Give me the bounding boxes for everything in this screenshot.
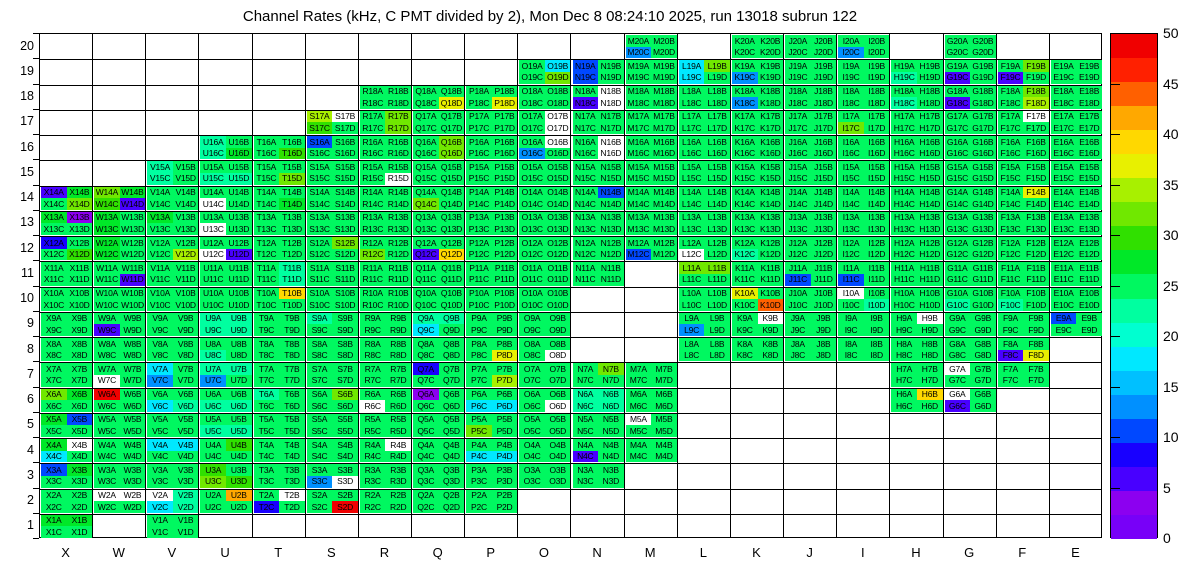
channel-v1c[interactable]: V1C — [147, 526, 173, 538]
heatmap-cell[interactable]: V10AV10BV10CV10D — [147, 288, 198, 311]
heatmap-cell[interactable]: H18AH18BH18CH18D — [891, 86, 942, 109]
channel-o3d[interactable]: O3D — [545, 476, 571, 488]
channel-t11a[interactable]: T11A — [254, 262, 280, 274]
heatmap-cell[interactable]: J10AJ10BJ10CJ10D — [785, 288, 836, 311]
channel-o6a[interactable]: O6A — [519, 389, 545, 401]
channel-j10c[interactable]: J10C — [785, 299, 811, 311]
channel-i17c[interactable]: I17C — [838, 122, 864, 134]
channel-k8d[interactable]: K8D — [758, 350, 784, 362]
heatmap-cell[interactable]: N11AN11BN11CN11D — [573, 262, 624, 285]
channel-w4c[interactable]: W4C — [94, 451, 120, 463]
channel-f7a[interactable]: F7A — [998, 363, 1024, 375]
heatmap-cell[interactable]: O11AO11BO11CO11D — [519, 262, 570, 285]
channel-m15a[interactable]: M15A — [626, 161, 652, 173]
heatmap-cell[interactable]: Q18AQ18BQ18CQ18D — [413, 86, 464, 109]
channel-f14b[interactable]: F14B — [1023, 187, 1049, 199]
channel-q17d[interactable]: Q17D — [439, 122, 465, 134]
channel-p4c[interactable]: P4C — [466, 451, 492, 463]
heatmap-cell[interactable]: V12AV12BV12CV12D — [147, 237, 198, 260]
channel-m17d[interactable]: M17D — [651, 122, 677, 134]
channel-v10d[interactable]: V10D — [173, 299, 199, 311]
channel-g20d[interactable]: G20D — [970, 47, 996, 59]
channel-s3a[interactable]: S3A — [307, 464, 333, 476]
heatmap-cell[interactable]: Q15AQ15BQ15CQ15D — [413, 161, 464, 184]
channel-v3a[interactable]: V3A — [147, 464, 173, 476]
channel-q2b[interactable]: Q2B — [439, 490, 465, 502]
heatmap-cell[interactable]: N19AN19BN19CN19D — [573, 60, 624, 83]
heatmap-cell[interactable]: X6AX6BX6CX6D — [41, 389, 92, 412]
channel-r2b[interactable]: R2B — [385, 490, 411, 502]
channel-s6a[interactable]: S6A — [307, 389, 333, 401]
channel-j18c[interactable]: J18C — [785, 97, 811, 109]
heatmap-cell[interactable]: T8AT8BT8CT8D — [254, 338, 305, 361]
channel-m17a[interactable]: M17A — [626, 111, 652, 123]
channel-j20d[interactable]: J20D — [811, 47, 837, 59]
channel-p14b[interactable]: P14B — [492, 187, 518, 199]
heatmap-cell[interactable]: T10AT10BT10CT10D — [254, 288, 305, 311]
channel-w8c[interactable]: W8C — [94, 350, 120, 362]
channel-n3a[interactable]: N3A — [573, 464, 599, 476]
channel-f7d[interactable]: F7D — [1023, 375, 1049, 387]
heatmap-cell[interactable]: V2AV2BV2CV2D — [147, 490, 198, 513]
channel-q4d[interactable]: Q4D — [439, 451, 465, 463]
heatmap-cell[interactable]: T6AT6BT6CT6D — [254, 389, 305, 412]
channel-t6a[interactable]: T6A — [254, 389, 280, 401]
channel-o7d[interactable]: O7D — [545, 375, 571, 387]
channel-n19d[interactable]: N19D — [598, 72, 624, 84]
channel-r2d[interactable]: R2D — [385, 501, 411, 513]
heatmap-cell[interactable]: R15AR15BR15CR15D — [360, 161, 411, 184]
heatmap-cell[interactable]: S6AS6BS6CS6D — [307, 389, 358, 412]
channel-f14d[interactable]: F14D — [1023, 198, 1049, 210]
channel-s12c[interactable]: S12C — [307, 249, 333, 261]
channel-j14c[interactable]: J14C — [785, 198, 811, 210]
channel-v10a[interactable]: V10A — [147, 288, 173, 300]
channel-g13c[interactable]: G13C — [945, 223, 971, 235]
channel-i11d[interactable]: I11D — [864, 274, 890, 286]
channel-m20a[interactable]: M20A — [626, 35, 652, 47]
channel-m4d[interactable]: M4D — [651, 451, 677, 463]
channel-l8a[interactable]: L8A — [679, 338, 705, 350]
heatmap-cell[interactable]: L16AL16BL16CL16D — [679, 136, 730, 159]
channel-q9b[interactable]: Q9B — [439, 313, 465, 325]
channel-u10c[interactable]: U10C — [200, 299, 226, 311]
channel-q9a[interactable]: Q9A — [413, 313, 439, 325]
heatmap-cell[interactable]: O3AO3BO3CO3D — [519, 464, 570, 487]
channel-q7a[interactable]: Q7A — [413, 363, 439, 375]
channel-o15b[interactable]: O15B — [545, 161, 571, 173]
channel-e18b[interactable]: E18B — [1076, 86, 1102, 98]
channel-n4b[interactable]: N4B — [598, 439, 624, 451]
heatmap-cell[interactable]: L17AL17BL17CL17D — [679, 111, 730, 134]
heatmap-cell[interactable]: F14AF14BF14CF14D — [998, 187, 1049, 210]
channel-o10d[interactable]: O10D — [545, 299, 571, 311]
channel-h11b[interactable]: H11B — [917, 262, 943, 274]
channel-x12b[interactable]: X12B — [67, 237, 93, 249]
heatmap-cell[interactable]: Q17AQ17BQ17CQ17D — [413, 111, 464, 134]
channel-n15c[interactable]: N15C — [573, 173, 599, 185]
channel-o14a[interactable]: O14A — [519, 187, 545, 199]
channel-u12b[interactable]: U12B — [226, 237, 252, 249]
heatmap-cell[interactable]: X1AX1BX1CX1D — [41, 515, 92, 538]
channel-r8b[interactable]: R8B — [385, 338, 411, 350]
channel-g10c[interactable]: G10C — [945, 299, 971, 311]
channel-v11b[interactable]: V11B — [173, 262, 199, 274]
channel-l8b[interactable]: L8B — [704, 338, 730, 350]
channel-n5a[interactable]: N5A — [573, 414, 599, 426]
channel-j20a[interactable]: J20A — [785, 35, 811, 47]
channel-q7b[interactable]: Q7B — [439, 363, 465, 375]
channel-e11c[interactable]: E11C — [1051, 274, 1077, 286]
channel-r11c[interactable]: R11C — [360, 274, 386, 286]
channel-g11a[interactable]: G11A — [945, 262, 971, 274]
channel-v13c[interactable]: V13C — [147, 223, 173, 235]
channel-k11b[interactable]: K11B — [758, 262, 784, 274]
channel-h12b[interactable]: H12B — [917, 237, 943, 249]
heatmap-cell[interactable]: I19AI19BI19CI19D — [838, 60, 889, 83]
channel-n17c[interactable]: N17C — [573, 122, 599, 134]
channel-p12d[interactable]: P12D — [492, 249, 518, 261]
channel-x13c[interactable]: X13C — [41, 223, 67, 235]
channel-i9d[interactable]: I9D — [864, 324, 890, 336]
channel-p7b[interactable]: P7B — [492, 363, 518, 375]
channel-w2b[interactable]: W2B — [120, 490, 146, 502]
channel-u4d[interactable]: U4D — [226, 451, 252, 463]
channel-t14d[interactable]: T14D — [279, 198, 305, 210]
channel-h11c[interactable]: H11C — [891, 274, 917, 286]
heatmap-cell[interactable]: O6AO6BO6CO6D — [519, 389, 570, 412]
channel-r15a[interactable]: R15A — [360, 161, 386, 173]
heatmap-cell[interactable]: W9AW9BW9CW9D — [94, 313, 145, 336]
channel-x14d[interactable]: X14D — [67, 198, 93, 210]
heatmap-cell[interactable]: T9AT9BT9CT9D — [254, 313, 305, 336]
channel-r10c[interactable]: R10C — [360, 299, 386, 311]
channel-r10b[interactable]: R10B — [385, 288, 411, 300]
channel-g20b[interactable]: G20B — [970, 35, 996, 47]
channel-f18d[interactable]: F18D — [1023, 97, 1049, 109]
channel-u8c[interactable]: U8C — [200, 350, 226, 362]
channel-h12a[interactable]: H12A — [891, 237, 917, 249]
heatmap-cell[interactable]: H16AH16BH16CH16D — [891, 136, 942, 159]
channel-p8d[interactable]: P8D — [492, 350, 518, 362]
heatmap-cell[interactable]: I8AI8BI8CI8D — [838, 338, 889, 361]
channel-j16d[interactable]: J16D — [811, 148, 837, 160]
heatmap-cell[interactable]: O10AO10BO10CO10D — [519, 288, 570, 311]
channel-j16c[interactable]: J16C — [785, 148, 811, 160]
channel-u14c[interactable]: U14C — [200, 198, 226, 210]
channel-w14d[interactable]: W14D — [120, 198, 146, 210]
channel-r5c[interactable]: R5C — [360, 425, 386, 437]
channel-e16d[interactable]: E16D — [1076, 148, 1102, 160]
heatmap-cell[interactable]: G9AG9BG9CG9D — [945, 313, 996, 336]
channel-r10d[interactable]: R10D — [385, 299, 411, 311]
channel-i8c[interactable]: I8C — [838, 350, 864, 362]
channel-l9d[interactable]: L9D — [704, 324, 730, 336]
channel-e17b[interactable]: E17B — [1076, 111, 1102, 123]
channel-i10b[interactable]: I10B — [864, 288, 890, 300]
channel-w14a[interactable]: W14A — [94, 187, 120, 199]
channel-i18d[interactable]: I18D — [864, 97, 890, 109]
heatmap-cell[interactable]: S12AS12BS12CS12D — [307, 237, 358, 260]
channel-f13b[interactable]: F13B — [1023, 212, 1049, 224]
channel-e13c[interactable]: E13C — [1051, 223, 1077, 235]
channel-j19b[interactable]: J19B — [811, 60, 837, 72]
heatmap-cell[interactable]: U3AU3BU3CU3D — [200, 464, 251, 487]
channel-r18b[interactable]: R18B — [385, 86, 411, 98]
channel-p5b[interactable]: P5B — [492, 414, 518, 426]
channel-q8c[interactable]: Q8C — [413, 350, 439, 362]
channel-w3a[interactable]: W3A — [94, 464, 120, 476]
channel-t13c[interactable]: T13C — [254, 223, 280, 235]
channel-r4c[interactable]: R4C — [360, 451, 386, 463]
channel-p17c[interactable]: P17C — [466, 122, 492, 134]
channel-o16a[interactable]: O16A — [519, 136, 545, 148]
channel-x12c[interactable]: X12C — [41, 249, 67, 261]
heatmap-cell[interactable]: T14AT14BT14CT14D — [254, 187, 305, 210]
channel-v2d[interactable]: V2D — [173, 501, 199, 513]
channel-o8c[interactable]: O8C — [519, 350, 545, 362]
channel-x2b[interactable]: X2B — [67, 490, 93, 502]
channel-n17b[interactable]: N17B — [598, 111, 624, 123]
channel-n18b[interactable]: N18B — [598, 86, 624, 98]
channel-j12a[interactable]: J12A — [785, 237, 811, 249]
channel-x13b[interactable]: X13B — [67, 212, 93, 224]
heatmap-cell[interactable]: R11AR11BR11CR11D — [360, 262, 411, 285]
heatmap-cell[interactable]: U7AU7BU7CU7D — [200, 363, 251, 386]
channel-k18c[interactable]: K18C — [732, 97, 758, 109]
channel-j15d[interactable]: J15D — [811, 173, 837, 185]
channel-q2d[interactable]: Q2D — [439, 501, 465, 513]
channel-j13d[interactable]: J13D — [811, 223, 837, 235]
heatmap-cell[interactable]: T3AT3BT3CT3D — [254, 464, 305, 487]
channel-h19c[interactable]: H19C — [891, 72, 917, 84]
channel-m19d[interactable]: M19D — [651, 72, 677, 84]
heatmap-cell[interactable]: W7AW7BW7CW7D — [94, 363, 145, 386]
channel-q8a[interactable]: Q8A — [413, 338, 439, 350]
channel-g9b[interactable]: G9B — [970, 313, 996, 325]
heatmap-cell[interactable]: U15AU15BU15CU15D — [200, 161, 251, 184]
channel-i16d[interactable]: I16D — [864, 148, 890, 160]
channel-p7c[interactable]: P7C — [466, 375, 492, 387]
heatmap-cell[interactable]: N6AN6BN6CN6D — [573, 389, 624, 412]
channel-q12c[interactable]: Q12C — [413, 249, 439, 261]
heatmap-cell[interactable]: T16AT16BT16CT16D — [254, 136, 305, 159]
channel-r12a[interactable]: R12A — [360, 237, 386, 249]
channel-n19c[interactable]: N19C — [573, 72, 599, 84]
channel-g8c[interactable]: G8C — [945, 350, 971, 362]
channel-x1b[interactable]: X1B — [67, 515, 93, 527]
channel-k17b[interactable]: K17B — [758, 111, 784, 123]
channel-t4a[interactable]: T4A — [254, 439, 280, 451]
heatmap-cell[interactable]: P18AP18BP18CP18D — [466, 86, 517, 109]
channel-h17b[interactable]: H17B — [917, 111, 943, 123]
channel-v3d[interactable]: V3D — [173, 476, 199, 488]
heatmap-cell[interactable]: R13AR13BR13CR13D — [360, 212, 411, 235]
channel-s11b[interactable]: S11B — [332, 262, 358, 274]
channel-u15b[interactable]: U15B — [226, 161, 252, 173]
heatmap-cell[interactable]: O7AO7BO7CO7D — [519, 363, 570, 386]
heatmap-cell[interactable]: N15AN15BN15CN15D — [573, 161, 624, 184]
channel-v1d[interactable]: V1D — [173, 526, 199, 538]
channel-f10b[interactable]: F10B — [1023, 288, 1049, 300]
channel-g8d[interactable]: G8D — [970, 350, 996, 362]
heatmap-cell[interactable]: E19AE19BE19CE19D — [1051, 60, 1102, 83]
channel-x6a[interactable]: X6A — [41, 389, 67, 401]
heatmap-cell[interactable]: P11AP11BP11CP11D — [466, 262, 517, 285]
channel-e13b[interactable]: E13B — [1076, 212, 1102, 224]
channel-u9d[interactable]: U9D — [226, 324, 252, 336]
channel-f12c[interactable]: F12C — [998, 249, 1024, 261]
channel-w9c[interactable]: W9C — [94, 324, 120, 336]
channel-m16b[interactable]: M16B — [651, 136, 677, 148]
heatmap-cell[interactable]: W8AW8BW8CW8D — [94, 338, 145, 361]
channel-g14d[interactable]: G14D — [970, 198, 996, 210]
channel-p9d[interactable]: P9D — [492, 324, 518, 336]
heatmap-cell[interactable]: J9AJ9BJ9CJ9D — [785, 313, 836, 336]
channel-t7b[interactable]: T7B — [279, 363, 305, 375]
heatmap-cell[interactable]: K12AK12BK12CK12D — [732, 237, 783, 260]
channel-r13a[interactable]: R13A — [360, 212, 386, 224]
channel-f14c[interactable]: F14C — [998, 198, 1024, 210]
channel-v2c[interactable]: V2C — [147, 501, 173, 513]
channel-x8c[interactable]: X8C — [41, 350, 67, 362]
channel-l14a[interactable]: L14A — [679, 187, 705, 199]
channel-l8c[interactable]: L8C — [679, 350, 705, 362]
channel-k15d[interactable]: K15D — [758, 173, 784, 185]
heatmap-cell[interactable]: H7AH7BH7CH7D — [891, 363, 942, 386]
channel-u16d[interactable]: U16D — [226, 148, 252, 160]
channel-t6d[interactable]: T6D — [279, 400, 305, 412]
channel-j16b[interactable]: J16B — [811, 136, 837, 148]
channel-j18d[interactable]: J18D — [811, 97, 837, 109]
channel-e9c[interactable]: E9C — [1051, 324, 1077, 336]
channel-k9c[interactable]: K9C — [732, 324, 758, 336]
channel-h8c[interactable]: H8C — [891, 350, 917, 362]
channel-m20b[interactable]: M20B — [651, 35, 677, 47]
channel-s3c[interactable]: S3C — [307, 476, 333, 488]
channel-k12c[interactable]: K12C — [732, 249, 758, 261]
channel-g13d[interactable]: G13D — [970, 223, 996, 235]
channel-o3b[interactable]: O3B — [545, 464, 571, 476]
channel-l9b[interactable]: L9B — [704, 313, 730, 325]
channel-e17d[interactable]: E17D — [1076, 122, 1102, 134]
heatmap-cell[interactable]: F8AF8BF8CF8D — [998, 338, 1049, 361]
channel-n6a[interactable]: N6A — [573, 389, 599, 401]
channel-n16b[interactable]: N16B — [598, 136, 624, 148]
channel-f8a[interactable]: F8A — [998, 338, 1024, 350]
heatmap-cell[interactable]: S8AS8BS8CS8D — [307, 338, 358, 361]
channel-o8d[interactable]: O8D — [545, 350, 571, 362]
channel-v6a[interactable]: V6A — [147, 389, 173, 401]
channel-h15c[interactable]: H15C — [891, 173, 917, 185]
channel-g6d[interactable]: G6D — [970, 400, 996, 412]
channel-f15b[interactable]: F15B — [1023, 161, 1049, 173]
heatmap-cell[interactable]: M12AM12BM12CM12D — [626, 237, 677, 260]
channel-n13b[interactable]: N13B — [598, 212, 624, 224]
channel-l13b[interactable]: L13B — [704, 212, 730, 224]
channel-s6d[interactable]: S6D — [332, 400, 358, 412]
channel-u8a[interactable]: U8A — [200, 338, 226, 350]
heatmap-cell[interactable]: T13AT13BT13CT13D — [254, 212, 305, 235]
channel-p12b[interactable]: P12B — [492, 237, 518, 249]
heatmap-cell[interactable]: O17AO17BO17CO17D — [519, 111, 570, 134]
channel-n5c[interactable]: N5C — [573, 425, 599, 437]
channel-j9a[interactable]: J9A — [785, 313, 811, 325]
heatmap-cell[interactable]: J19AJ19BJ19CJ19D — [785, 60, 836, 83]
channel-x14b[interactable]: X14B — [67, 187, 93, 199]
heatmap-cell[interactable]: E14AE14BE14CE14D — [1051, 187, 1102, 210]
channel-p15b[interactable]: P15B — [492, 161, 518, 173]
channel-k13c[interactable]: K13C — [732, 223, 758, 235]
heatmap-cell[interactable]: L12AL12BL12CL12D — [679, 237, 730, 260]
channel-h18a[interactable]: H18A — [891, 86, 917, 98]
channel-r9c[interactable]: R9C — [360, 324, 386, 336]
channel-v10b[interactable]: V10B — [173, 288, 199, 300]
channel-v9b[interactable]: V9B — [173, 313, 199, 325]
channel-i17b[interactable]: I17B — [864, 111, 890, 123]
channel-o11a[interactable]: O11A — [519, 262, 545, 274]
heatmap-cell[interactable]: Q10AQ10BQ10CQ10D — [413, 288, 464, 311]
channel-o3a[interactable]: O3A — [519, 464, 545, 476]
channel-x14c[interactable]: X14C — [41, 198, 67, 210]
channel-u3c[interactable]: U3C — [200, 476, 226, 488]
channel-o17d[interactable]: O17D — [545, 122, 571, 134]
channel-u8b[interactable]: U8B — [226, 338, 252, 350]
channel-q5c[interactable]: Q5C — [413, 425, 439, 437]
channel-p13b[interactable]: P13B — [492, 212, 518, 224]
heatmap-cell[interactable]: J11AJ11BJ11CJ11D — [785, 262, 836, 285]
heatmap-cell[interactable]: K19AK19BK19CK19D — [732, 60, 783, 83]
channel-v10c[interactable]: V10C — [147, 299, 173, 311]
channel-r12c[interactable]: R12C — [360, 249, 386, 261]
channel-g8a[interactable]: G8A — [945, 338, 971, 350]
heatmap-cell[interactable]: R14AR14BR14CR14D — [360, 187, 411, 210]
channel-t16d[interactable]: T16D — [279, 148, 305, 160]
channel-q11d[interactable]: Q11D — [439, 274, 465, 286]
heatmap-cell[interactable]: L8AL8BL8CL8D — [679, 338, 730, 361]
channel-q18d[interactable]: Q18D — [439, 97, 465, 109]
channel-t11b[interactable]: T11B — [279, 262, 305, 274]
channel-g7a[interactable]: G7A — [945, 363, 971, 375]
channel-j10d[interactable]: J10D — [811, 299, 837, 311]
heatmap-cell[interactable]: S14AS14BS14CS14D — [307, 187, 358, 210]
channel-e18a[interactable]: E18A — [1051, 86, 1077, 98]
heatmap-cell[interactable]: T2AT2BT2CT2D — [254, 490, 305, 513]
channel-l15c[interactable]: L15C — [679, 173, 705, 185]
channel-o18c[interactable]: O18C — [519, 97, 545, 109]
channel-j19a[interactable]: J19A — [785, 60, 811, 72]
channel-v15a[interactable]: V15A — [147, 161, 173, 173]
heatmap-cell[interactable]: P10AP10BP10CP10D — [466, 288, 517, 311]
channel-w10a[interactable]: W10A — [94, 288, 120, 300]
channel-l13d[interactable]: L13D — [704, 223, 730, 235]
channel-r14b[interactable]: R14B — [385, 187, 411, 199]
channel-g7b[interactable]: G7B — [970, 363, 996, 375]
channel-s8d[interactable]: S8D — [332, 350, 358, 362]
channel-f13c[interactable]: F13C — [998, 223, 1024, 235]
channel-s16d[interactable]: S16D — [332, 148, 358, 160]
heatmap-cell[interactable]: K17AK17BK17CK17D — [732, 111, 783, 134]
channel-k8c[interactable]: K8C — [732, 350, 758, 362]
channel-j9d[interactable]: J9D — [811, 324, 837, 336]
heatmap-cell[interactable]: K8AK8BK8CK8D — [732, 338, 783, 361]
channel-o14b[interactable]: O14B — [545, 187, 571, 199]
channel-f15a[interactable]: F15A — [998, 161, 1024, 173]
channel-u9b[interactable]: U9B — [226, 313, 252, 325]
channel-r16c[interactable]: R16C — [360, 148, 386, 160]
channel-i12c[interactable]: I12C — [838, 249, 864, 261]
channel-v12a[interactable]: V12A — [147, 237, 173, 249]
